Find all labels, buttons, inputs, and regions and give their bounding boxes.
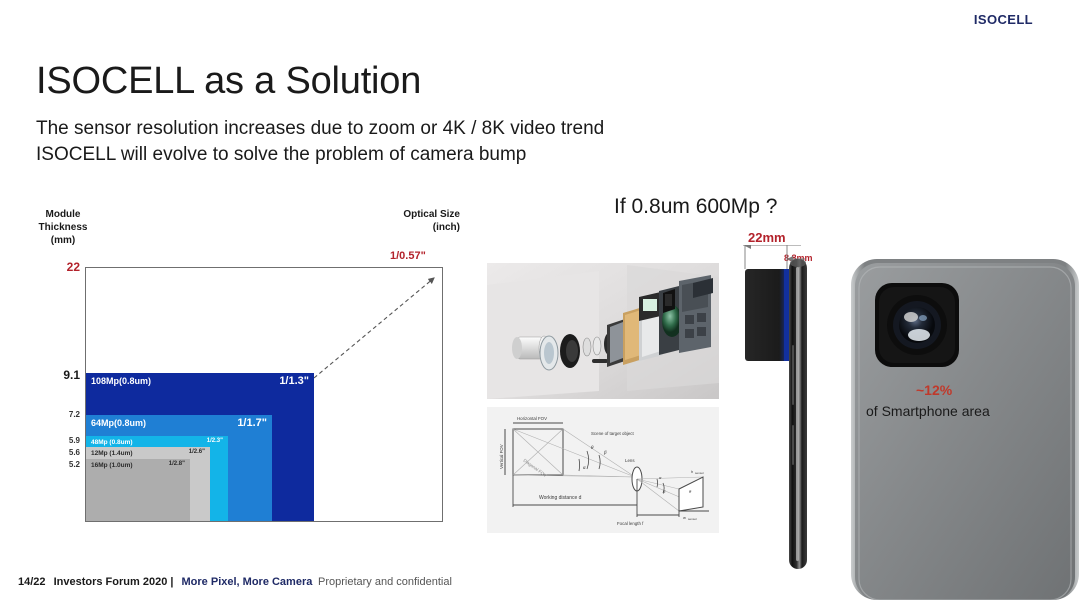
bar-12mp-label: 12Mp (1.4um)	[91, 450, 133, 457]
y-axis-label-line-2: Thickness	[24, 221, 102, 234]
subtitle-line-2: ISOCELL will evolve to solve the problem…	[36, 142, 604, 168]
bar-48mp-optical-size: 1/2.3"	[207, 438, 223, 444]
fov-label-h-sensor: h	[691, 469, 693, 474]
subtitle-line-1: The sensor resolution increases due to z…	[36, 116, 604, 142]
projection-optical-size-label: 1/0.57"	[390, 250, 426, 262]
bar-16mp-label: 16Mp (1.0um)	[91, 462, 133, 469]
bar-48mp-label: 48Mp (0.8um)	[91, 439, 133, 446]
chart-plot-area: 108Mp(0.8um) 1/1.3" 64Mp(0.8um) 1/1.7" 4…	[85, 267, 443, 522]
bar-12mp-optical-size: 1/2.6"	[189, 449, 205, 455]
y-axis-label: Module Thickness (mm)	[24, 208, 102, 247]
footer-page-number: 14/22	[18, 576, 46, 588]
y-tick-7-2: 7.2	[40, 410, 80, 419]
fov-label-horizontal: Horizontal FOV	[517, 416, 547, 421]
bar-16mp-optical-size: 1/2.8"	[169, 461, 185, 467]
bar-108mp-optical-size: 1/1.3"	[279, 375, 309, 387]
percent-value: ~12%	[916, 382, 952, 398]
dimension-22mm: 22mm	[748, 230, 786, 245]
fov-angle-alpha: α	[583, 466, 586, 471]
phone-side-view	[735, 245, 845, 575]
bar-16mp: 16Mp (1.0um) 1/2.8"	[86, 459, 190, 521]
y-axis-label-line-1: Module	[24, 208, 102, 221]
page-subtitle: The sensor resolution increases due to z…	[36, 116, 604, 168]
y-tick-5-9: 5.9	[40, 436, 80, 445]
fov-label-lens: Lens	[625, 458, 635, 463]
bar-64mp-label: 64Mp(0.8um)	[91, 418, 146, 428]
y-tick-5-2: 5.2	[40, 460, 80, 469]
x-axis-label: Optical Size (inch)	[355, 208, 460, 234]
module-thickness-chart: Module Thickness (mm) Optical Size (inch…	[0, 200, 470, 550]
bar-108mp-label: 108Mp(0.8um)	[91, 376, 151, 386]
footer-tagline: More Pixel, More Camera	[182, 576, 313, 588]
y-tick-22: 22	[40, 260, 80, 274]
fov-label-w-sensor: w	[683, 515, 686, 520]
fov-label-h-sensor-sub: sensor	[695, 471, 704, 475]
footer: 14/22 Investors Forum 2020 | More Pixel,…	[18, 576, 312, 588]
fov-label-working-distance: Working distance d	[539, 495, 582, 501]
fov-label-scene: Scene of target object	[591, 431, 634, 436]
fov-label-vertical: Vertical FOV	[499, 444, 504, 469]
y-tick-9-1: 9.1	[40, 368, 80, 382]
x-axis-label-line-1: Optical Size	[355, 208, 460, 221]
bar-64mp-optical-size: 1/1.7"	[237, 417, 267, 429]
fov-angle-beta: β	[603, 451, 607, 456]
exploded-camera-module-photo	[487, 263, 719, 399]
x-axis-label-line-2: (inch)	[355, 221, 460, 234]
question-600mp: If 0.8um 600Mp ?	[614, 195, 777, 219]
percent-caption: of Smartphone area	[866, 403, 990, 419]
page-title: ISOCELL as a Solution	[36, 60, 421, 103]
phone-back-view	[849, 255, 1081, 600]
fov-label-focal-length: Focal length f	[617, 521, 644, 526]
y-tick-5-6: 5.6	[40, 448, 80, 457]
footer-confidential: Proprietary and confidential	[318, 576, 538, 588]
footer-event: Investors Forum 2020 |	[54, 576, 174, 588]
isocell-logo: ISOCELL	[974, 12, 1033, 27]
fov-label-w-sensor-sub: sensor	[688, 517, 697, 521]
slide: ISOCELL ISOCELL as a Solution The sensor…	[0, 0, 1081, 600]
y-axis-label-line-3: (mm)	[24, 234, 102, 247]
fov-geometry-diagram: Horizontal FOV Vertical FOV Diagonal FOV…	[487, 407, 719, 533]
